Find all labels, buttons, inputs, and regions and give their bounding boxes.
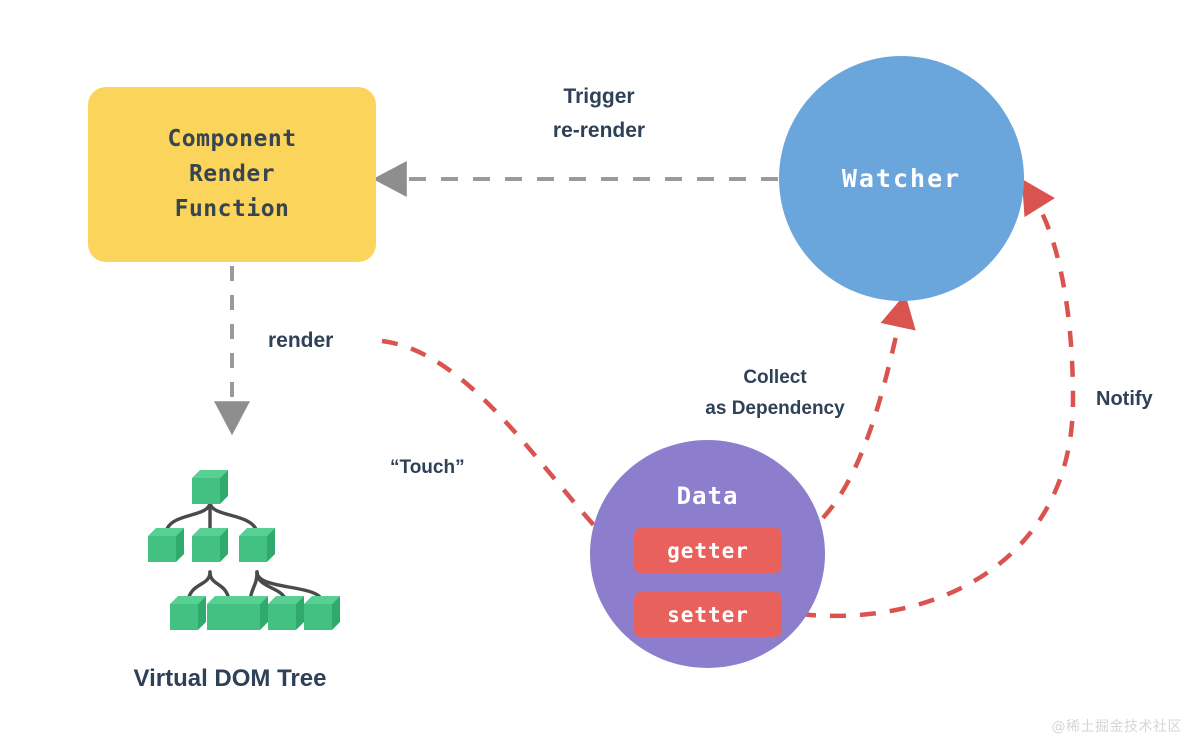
virtual-dom-tree-graphic xyxy=(110,460,370,650)
edge-label-notify: Notify xyxy=(1096,388,1153,411)
data-label: Data xyxy=(590,482,825,510)
tree-cube-leaf-5 xyxy=(304,596,340,630)
component-render-function-label: Component Render Function xyxy=(167,122,296,227)
data-node[interactable]: Data getter setter xyxy=(590,440,825,668)
getter-box[interactable]: getter xyxy=(634,528,782,573)
watermark: @稀土掘金技术社区 xyxy=(1052,716,1183,736)
tree-cube-root xyxy=(192,470,228,504)
edge-touch xyxy=(382,341,612,545)
edge-label-trigger-re-render: Trigger re-render xyxy=(470,80,728,148)
virtual-dom-tree-label: Virtual DOM Tree xyxy=(80,665,380,693)
tree-cube-leaf-4 xyxy=(268,596,304,630)
watcher-node[interactable]: Watcher xyxy=(779,56,1024,301)
tree-cube-leaf-3 xyxy=(232,596,268,630)
tree-cube-leaf-1 xyxy=(170,596,206,630)
component-render-function-node[interactable]: Component Render Function xyxy=(88,87,376,262)
setter-box[interactable]: setter xyxy=(634,592,782,637)
edge-label-collect-as-dependency: Collect as Dependency xyxy=(660,362,890,424)
tree-cube-child-1 xyxy=(148,528,184,562)
tree-cube-child-3 xyxy=(239,528,275,562)
watcher-label: Watcher xyxy=(842,164,961,193)
edge-label-render: render xyxy=(268,329,333,353)
virtual-dom-tree-svg xyxy=(110,460,370,650)
tree-cube-child-2 xyxy=(192,528,228,562)
edge-label-touch: “Touch” xyxy=(390,457,465,479)
diagram-canvas: Component Render Function Watcher Data g… xyxy=(0,0,1200,750)
